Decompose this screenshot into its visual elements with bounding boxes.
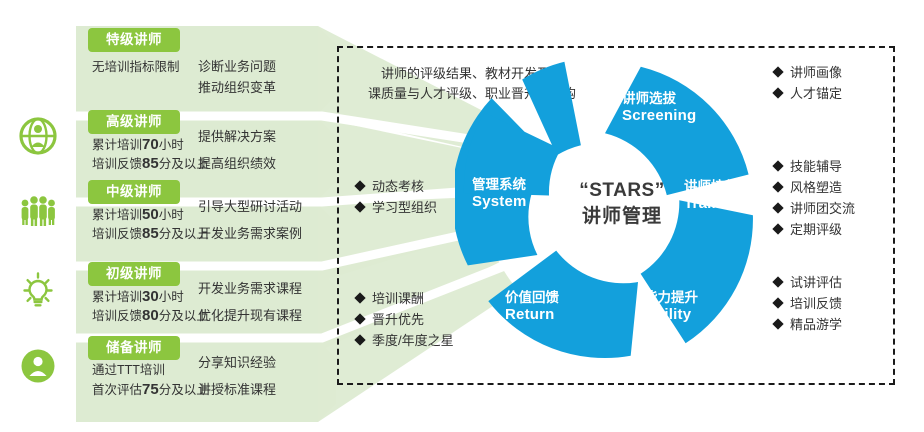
level-card-body: 储备讲师 通过TTT培训 首次评估75分及以上 分享知识经验 讲授标准课程 (76, 336, 334, 422)
level-title-pill: 高级讲师 (88, 110, 180, 134)
level-title-pill: 特级讲师 (88, 28, 180, 52)
bullet-item: 季度/年度之星 (356, 330, 454, 351)
level-requirement: 通过TTT培训 (92, 362, 165, 379)
diamond-bullet-icon (354, 334, 365, 345)
person-circle-icon (18, 346, 58, 386)
diamond-bullet-icon (772, 87, 783, 98)
level-requirement: 累计培训50小时 (92, 206, 184, 224)
wheel-center-text: “STARS” 讲师管理 (542, 178, 702, 230)
level-duty: 优化提升现有课程 (198, 306, 302, 325)
bullet-item: 定期评级 (774, 219, 855, 240)
level-duty: 提供解决方案 (198, 127, 276, 146)
level-duty: 引导大型研讨活动 (198, 197, 302, 216)
level-title-pill: 中级讲师 (88, 180, 180, 204)
level-card-1[interactable]: 特级讲师 无培训指标限制 诊断业务问题 推动组织变革 (76, 28, 334, 106)
lightbulb-icon (18, 272, 58, 312)
level-duty: 开发业务需求课程 (198, 279, 302, 298)
level-requirement: 培训反馈85分及以上 (92, 155, 209, 173)
bullet-item: 培训反馈 (774, 293, 842, 314)
level-card-body: 初级讲师 累计培训30小时 培训反馈80分及以上 开发业务需求课程 优化提升现有… (76, 262, 334, 346)
diamond-bullet-icon (354, 313, 365, 324)
bullet-item: 人才锚定 (774, 83, 842, 104)
level-card-4[interactable]: 初级讲师 累计培训30小时 培训反馈80分及以上 开发业务需求课程 优化提升现有… (76, 262, 334, 346)
level-title-pill: 储备讲师 (88, 336, 180, 360)
bullet-item: 培训课酬 (356, 288, 454, 309)
bullets-screening: 讲师画像 人才锚定 (774, 62, 842, 104)
level-duty: 提高组织绩效 (198, 154, 276, 173)
level-card-body: 特级讲师 无培训指标限制 诊断业务问题 推动组织变革 (76, 28, 334, 106)
diamond-bullet-icon (772, 202, 783, 213)
bullet-item: 技能辅导 (774, 156, 855, 177)
bullet-item: 动态考核 (356, 176, 437, 197)
segment-label-system: 管理系统 System (472, 176, 527, 210)
bullets-system: 动态考核 学习型组织 (356, 176, 437, 218)
diamond-bullet-icon (772, 318, 783, 329)
bullet-item: 晋升优先 (356, 309, 454, 330)
bullet-item: 讲师画像 (774, 62, 842, 83)
center-line-1: “STARS” (542, 178, 702, 204)
level-title-pill: 初级讲师 (88, 262, 180, 286)
level-requirement: 累计培训30小时 (92, 288, 184, 306)
level-requirement: 培训反馈80分及以上 (92, 307, 209, 325)
level-card-body: 中级讲师 累计培训50小时 培训反馈85分及以上 引导大型研讨活动 开发业务需求… (76, 180, 334, 264)
level-card-3[interactable]: 中级讲师 累计培训50小时 培训反馈85分及以上 引导大型研讨活动 开发业务需求… (76, 180, 334, 264)
bullet-item: 风格塑造 (774, 177, 855, 198)
segment-label-return: 价值回馈 Return (505, 289, 559, 323)
bullet-item: 讲师团交流 (774, 198, 855, 219)
bullets-return: 培训课酬 晋升优先 季度/年度之星 (356, 288, 454, 351)
center-line-2: 讲师管理 (542, 204, 702, 230)
diamond-bullet-icon (772, 181, 783, 192)
level-requirement: 培训反馈85分及以上 (92, 225, 209, 243)
level-duty: 开发业务需求案例 (198, 224, 302, 243)
diamond-bullet-icon (772, 223, 783, 234)
diamond-bullet-icon (772, 66, 783, 77)
level-duty: 推动组织变革 (198, 78, 276, 97)
level-requirement: 无培训指标限制 (92, 59, 180, 76)
diamond-bullet-icon (354, 180, 365, 191)
infographic-canvas: 特级讲师 无培训指标限制 诊断业务问题 推动组织变革 高级讲师 累计培训70小时… (0, 0, 924, 432)
bullets-training: 技能辅导 风格塑造 讲师团交流 定期评级 (774, 156, 855, 240)
bullet-item: 学习型组织 (356, 197, 437, 218)
level-requirement: 累计培训70小时 (92, 136, 184, 154)
level-requirement: 首次评估75分及以上 (92, 381, 209, 399)
level-duty: 诊断业务问题 (198, 57, 276, 76)
bullets-ability: 试讲评估 培训反馈 精品游学 (774, 272, 842, 335)
segment-label-screening: 讲师选拔 Screening (622, 90, 696, 124)
diamond-bullet-icon (772, 297, 783, 308)
globe-people-icon (18, 116, 58, 156)
level-card-5[interactable]: 储备讲师 通过TTT培训 首次评估75分及以上 分享知识经验 讲授标准课程 (76, 336, 334, 422)
segment-label-ability: 能力提升 Ability (644, 289, 698, 323)
diamond-bullet-icon (354, 201, 365, 212)
wheel-segment-screening (605, 67, 749, 195)
diamond-bullet-icon (354, 292, 365, 303)
people-group-icon (18, 190, 58, 230)
bullet-item: 试讲评估 (774, 272, 842, 293)
diamond-bullet-icon (772, 160, 783, 171)
diamond-bullet-icon (772, 276, 783, 287)
bullet-item: 精品游学 (774, 314, 842, 335)
level-duty: 分享知识经验 (198, 353, 276, 372)
level-duty: 讲授标准课程 (198, 380, 276, 399)
